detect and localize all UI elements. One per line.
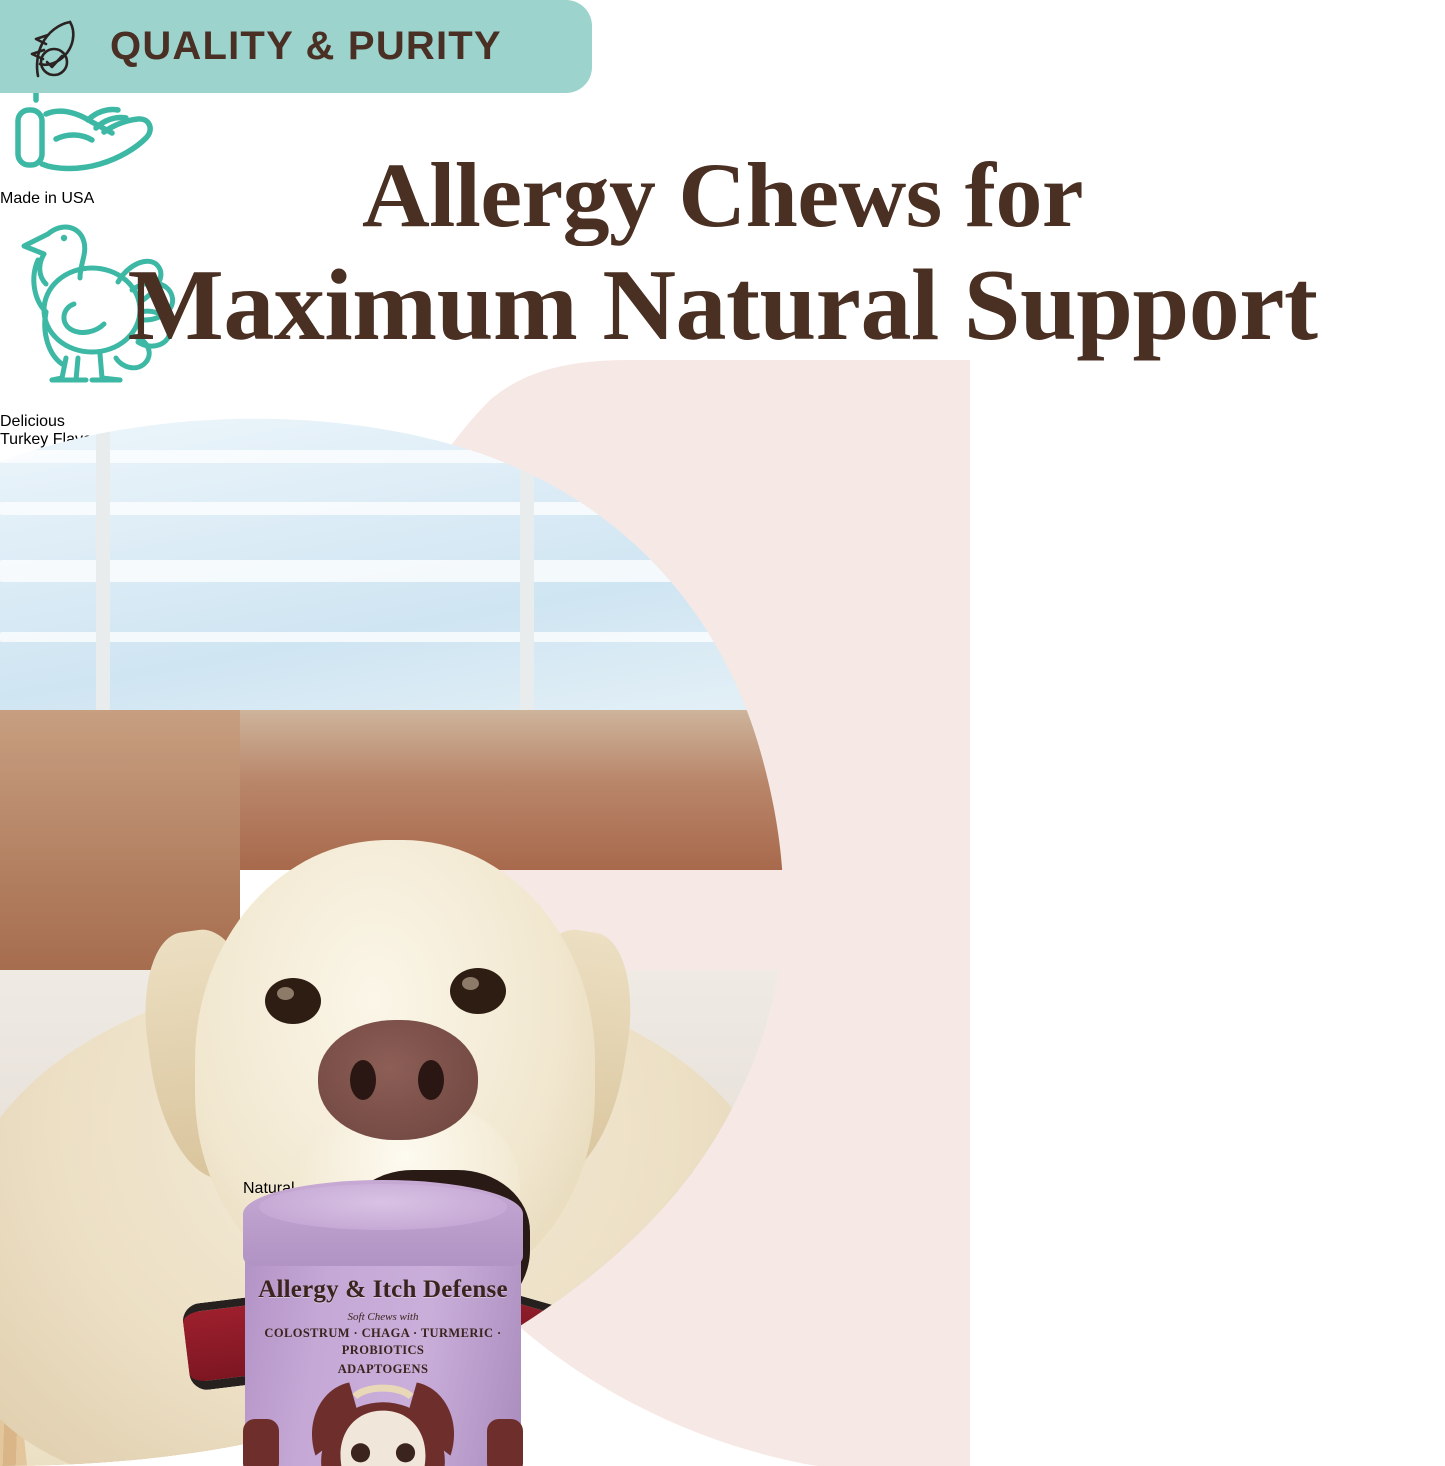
jar-badges-row: [243, 1360, 523, 1466]
photo-dog-front-leg-right: [509, 1341, 691, 1466]
jar-subtitle: Soft Chews with: [243, 1311, 523, 1323]
photo-window-frame: [96, 410, 110, 740]
headline-line-1: Allergy Chews for: [0, 148, 1445, 243]
photo-dog-paw-right: [556, 1442, 685, 1466]
boston-terrier-mascot-icon: [293, 1360, 473, 1466]
feather-check-icon: [26, 14, 88, 80]
product-jar: Allergy & Itch Defense Soft Chews with C…: [243, 1180, 523, 1466]
photo-ceiling-beam: [0, 632, 850, 642]
jar-ingredients-line-1: COLOSTRUM · CHAGA · TURMERIC · PROBIOTIC…: [243, 1325, 523, 1359]
jar-seal-left: [243, 1419, 279, 1466]
headline-line-2: Maximum Natural Support: [0, 253, 1445, 358]
quality-purity-badge: QUALITY & PURITY: [0, 0, 592, 93]
photo-ceiling-beam: [0, 560, 850, 582]
photo-ceiling-beam: [0, 502, 850, 515]
jar-seal-right: [487, 1419, 523, 1466]
photo-window-frame: [520, 410, 534, 740]
jar-title: Allergy & Itch Defense: [243, 1276, 523, 1304]
photo-ceiling-beam: [0, 450, 850, 463]
page-title: Allergy Chews for Maximum Natural Suppor…: [0, 148, 1445, 358]
marketing-infographic: QUALITY & PURITY Allergy Chews for Maxim…: [0, 0, 1445, 1466]
jar-lid-top: [259, 1184, 507, 1230]
photo-dog-eye-left: [265, 978, 321, 1024]
jar-lid: [243, 1180, 523, 1266]
photo-dog-nose: [318, 1020, 478, 1140]
badge-label: QUALITY & PURITY: [110, 24, 502, 69]
photo-dog-eye-right: [450, 968, 506, 1014]
photo-couch-leg: [600, 1290, 618, 1332]
